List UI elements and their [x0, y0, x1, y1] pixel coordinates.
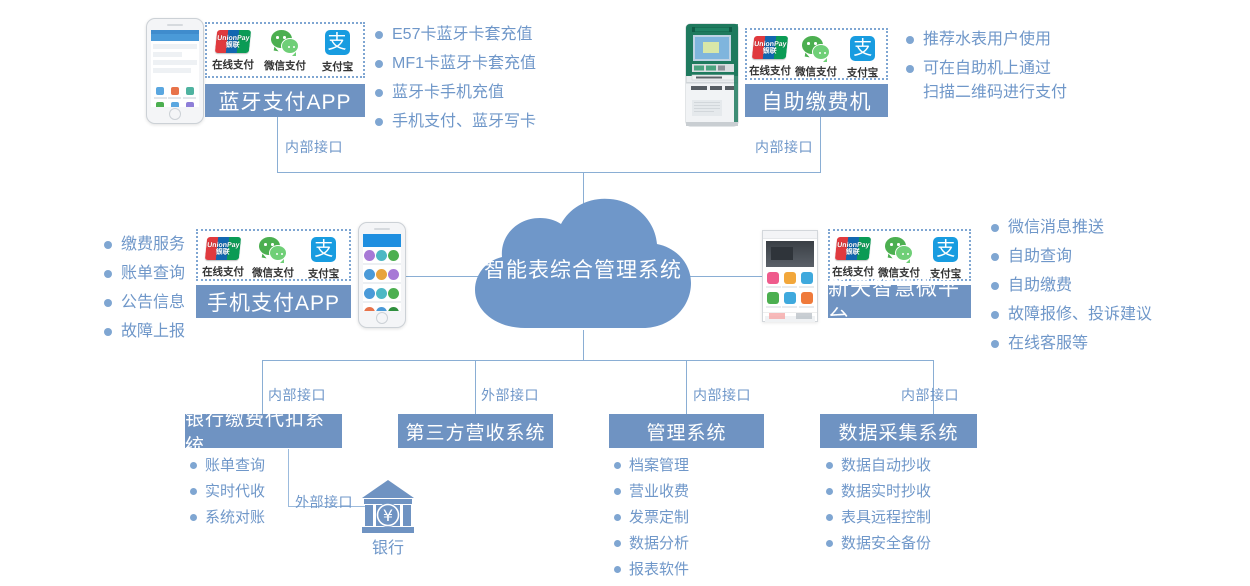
bullet-dot [375, 118, 383, 126]
feature-text: 公告信息 [121, 291, 185, 315]
data-collection-system-title[interactable]: 数据采集系统 [820, 414, 977, 448]
bullet-dot [906, 36, 914, 44]
phone-app-tile [388, 307, 400, 311]
phone-screen [151, 30, 199, 107]
alipay-icon: 支 [850, 36, 875, 61]
payment-method-label: 在线支付 [212, 56, 254, 71]
unionpay-cn: 银联 [215, 249, 230, 256]
phone-app-tile [182, 87, 197, 99]
bullet-dot [104, 270, 112, 278]
bullet-dot [190, 514, 197, 521]
list-item: 缴费服务 [104, 233, 185, 257]
list-item: 故障报修、投诉建议 [991, 303, 1152, 327]
bullet-dot [190, 462, 197, 469]
connector-top-right-vertical [820, 117, 821, 173]
list-item: 营业收费 [614, 481, 689, 503]
tablet-footer-item [769, 313, 785, 319]
payment-method-label: 在线支付 [749, 62, 791, 77]
bullet-dot [826, 462, 833, 469]
tablet-app-grid [763, 269, 817, 312]
phone-app-tile [376, 307, 388, 311]
feature-text: 手机支付、蓝牙写卡 [392, 110, 536, 134]
bullet-dot [190, 488, 197, 495]
list-item: 账单查询 [104, 262, 185, 286]
unionpay-icon: UnionPay银联 [205, 237, 241, 260]
label-interface-bottom-3: 内部接口 [693, 385, 751, 405]
bullet-dot [104, 328, 112, 336]
wechat-pay-icon [271, 30, 299, 54]
kiosk-title[interactable]: 自助缴费机 [745, 84, 888, 117]
connector-bottom-drop-2 [475, 360, 476, 414]
connector-top-bus [277, 172, 821, 173]
bullet-dot [991, 224, 999, 232]
phone-screen [363, 234, 401, 311]
bullet-dot [104, 241, 112, 249]
bullet-dot [991, 253, 999, 261]
phone-app-tile [388, 250, 400, 265]
unionpay-icon: UnionPay银联 [215, 30, 251, 53]
list-item: 公告信息 [104, 291, 185, 315]
unionpay-cn: 银联 [762, 48, 777, 55]
phone-speaker [167, 24, 183, 26]
tablet-hero-image [766, 241, 814, 267]
list-item: 数据实时抄收 [826, 481, 931, 503]
bullet-dot [826, 540, 833, 547]
list-item: 故障上报 [104, 320, 185, 344]
payment-method-label: 支付宝 [321, 58, 352, 73]
phone-speaker [374, 228, 390, 230]
phone-home-button [169, 108, 181, 120]
phone-content-row [153, 60, 197, 65]
payment-method-label: 支付宝 [847, 64, 878, 79]
self-service-kiosk-device [682, 18, 744, 133]
label-interface-bottom-4: 内部接口 [901, 385, 959, 405]
bullet-dot [906, 65, 914, 73]
list-item: 档案管理 [614, 455, 689, 477]
tablet-app-tile [798, 272, 815, 288]
phone-content-row [153, 44, 197, 49]
feature-text: 自助缴费 [1008, 274, 1072, 298]
connector-top-left-vertical [277, 117, 278, 173]
central-system-cloud: 智能表综合管理系统 [467, 196, 699, 336]
label-external-interface-bank: 外部接口 [295, 492, 353, 512]
phone-app-tile [168, 102, 183, 107]
kiosk-illustration-icon [682, 18, 744, 128]
bullet-dot [104, 299, 112, 307]
payment-method-unionpay: UnionPay银联 在线支付 [747, 36, 793, 78]
feature-text: MF1卡蓝牙卡套充值 [392, 52, 536, 76]
phone-banner [363, 234, 401, 247]
tablet-app-tile [765, 292, 782, 308]
feature-text: 推荐水表用户使用 [923, 28, 1051, 52]
list-item: 发票定制 [614, 507, 689, 529]
list-item: 表具远程控制 [826, 507, 931, 529]
wechat-pay-icon [259, 237, 287, 261]
payment-method-alipay: 支 支付宝 [311, 30, 362, 74]
bullet-dot [375, 31, 383, 39]
bullet-dot [991, 311, 999, 319]
tablet-footer-item [796, 313, 812, 319]
feature-text: 数据分析 [629, 533, 689, 555]
data-collection-system-feature-list: 数据自动抄收 数据实时抄收 表具远程控制 数据安全备份 [826, 455, 931, 559]
feature-text: 自助查询 [1008, 245, 1072, 269]
list-item: 数据安全备份 [826, 533, 931, 555]
tablet-app-tile [765, 272, 782, 288]
label-internal-interface-top-right: 内部接口 [755, 137, 813, 157]
phone-app-grid [151, 85, 199, 107]
phone-home-button [376, 312, 388, 324]
feature-text: 实时代收 [205, 481, 265, 503]
mobile-app-title[interactable]: 手机支付APP [196, 285, 351, 318]
wechat-platform-title[interactable]: 新天智慧微平台 [828, 285, 971, 318]
tablet-app-tile [798, 292, 815, 308]
payment-method-unionpay: UnionPay银联 在线支付 [207, 30, 258, 72]
bank-label: 银行 [360, 534, 416, 558]
connector-bottom-bus [262, 360, 933, 361]
bullet-dot [991, 340, 999, 348]
phone-app-tile [168, 87, 183, 99]
list-item: 实时代收 [190, 481, 265, 503]
payment-method-label: 微信支付 [253, 264, 295, 279]
mobile-app-feature-list: 缴费服务 账单查询 公告信息 故障上报 [104, 233, 185, 349]
tablet-app-tile [782, 292, 799, 308]
feature-text: 档案管理 [629, 455, 689, 477]
payment-method-label: 微信支付 [264, 57, 306, 72]
list-item: 微信消息推送 [991, 216, 1152, 240]
bullet-dot [375, 89, 383, 97]
list-item: 在线客服等 [991, 332, 1152, 356]
list-item: 账单查询 [190, 455, 265, 477]
bluetooth-app-feature-list: E57卡蓝牙卡套充值 MF1卡蓝牙卡套充值 蓝牙卡手机充值 手机支付、蓝牙写卡 [375, 23, 536, 139]
bank-deduction-system-feature-list: 账单查询 实时代收 系统对账 [190, 455, 265, 533]
unionpay-cn: 银联 [845, 249, 860, 256]
bullet-dot [614, 566, 621, 573]
payment-method-label: 在线支付 [202, 263, 244, 278]
mobile-app-phone-device [358, 222, 406, 328]
wechat-pay-icon [885, 237, 913, 261]
feature-text: 表具远程控制 [841, 507, 931, 529]
list-item: 自助查询 [991, 245, 1152, 269]
feature-text-line2: 扫描二维码进行支付 [923, 81, 1067, 105]
list-item: 数据分析 [614, 533, 689, 555]
bluetooth-app-title[interactable]: 蓝牙支付APP [205, 84, 365, 117]
unionpay-cn: 银联 [225, 42, 240, 49]
phone-app-tile [364, 307, 376, 311]
phone-content-row [153, 52, 182, 57]
phone-app-tile [153, 87, 168, 99]
feature-text: 系统对账 [205, 507, 265, 529]
third-party-revenue-system-title[interactable]: 第三方营收系统 [398, 414, 553, 448]
bank-building-icon: ¥ [360, 478, 416, 536]
bullet-dot [614, 540, 621, 547]
feature-text: 在线客服等 [1008, 332, 1088, 356]
management-system-title[interactable]: 管理系统 [609, 414, 764, 448]
unionpay-wordmark: UnionPay [217, 35, 250, 42]
feature-text: 故障报修、投诉建议 [1008, 303, 1152, 327]
kiosk-payment-methods: UnionPay银联 在线支付 微信支付 支 支付宝 [745, 28, 888, 80]
bluetooth-app-payment-methods: UnionPay银联 在线支付 微信支付 支 支付宝 [205, 22, 365, 78]
payment-method-label: 支付宝 [308, 265, 339, 280]
svg-text:¥: ¥ [383, 506, 393, 525]
feature-text: 发票定制 [629, 507, 689, 529]
bullet-dot [614, 462, 621, 469]
phone-app-grid [363, 247, 401, 311]
payment-method-wechat: 微信支付 [794, 36, 840, 79]
alipay-icon: 支 [933, 237, 958, 262]
tablet-titlebar [763, 231, 817, 239]
bullet-dot [826, 514, 833, 521]
feature-text: 报表软件 [629, 559, 689, 581]
bank-entity: ¥ 银行 [360, 478, 416, 556]
tablet-footer [763, 313, 817, 319]
feature-text: 数据实时抄收 [841, 481, 931, 503]
list-item: 系统对账 [190, 507, 265, 529]
list-item: 数据自动抄收 [826, 455, 931, 477]
kiosk-feature-list: 推荐水表用户使用 可在自助机上通过扫描二维码进行支付 [906, 28, 1067, 110]
feature-text: E57卡蓝牙卡套充值 [392, 23, 532, 47]
phone-navbar [151, 34, 199, 41]
phone-app-tile [153, 102, 168, 107]
feature-text: 可在自助机上通过 [923, 57, 1067, 81]
unionpay-wordmark: UnionPay [207, 242, 240, 249]
payment-method-alipay: 支 支付宝 [840, 36, 886, 80]
feature-text: 账单查询 [121, 262, 185, 286]
phone-app-tile [388, 288, 400, 303]
management-system-feature-list: 档案管理 营业收费 发票定制 数据分析 报表软件 [614, 455, 689, 585]
payment-method-label: 微信支付 [796, 63, 838, 78]
list-item: 手机支付、蓝牙写卡 [375, 110, 536, 134]
list-item: E57卡蓝牙卡套充值 [375, 23, 536, 47]
bullet-dot [375, 60, 383, 68]
phone-content-row [153, 68, 191, 73]
feature-text: 数据自动抄收 [841, 455, 931, 477]
list-item: 可在自助机上通过扫描二维码进行支付 [906, 57, 1067, 105]
feature-text: 营业收费 [629, 481, 689, 503]
unionpay-wordmark: UnionPay [837, 242, 870, 249]
bank-deduction-system-title[interactable]: 银行缴费代扣系统 [185, 414, 342, 448]
unionpay-icon: UnionPay银联 [752, 36, 788, 59]
bullet-dot [826, 488, 833, 495]
tablet-app-tile [782, 272, 799, 288]
feature-text: 数据安全备份 [841, 533, 931, 555]
list-item: 报表软件 [614, 559, 689, 581]
bluetooth-app-phone-device [146, 18, 204, 124]
connector-bottom-drop-3 [686, 360, 687, 414]
diagram-canvas: 内部接口 内部接口 内部接口 外部接口 内部接口 内部接口 外部接口 智能表综合… [0, 0, 1250, 586]
unionpay-icon: UnionPay银联 [835, 237, 871, 260]
label-interface-bottom-1: 内部接口 [268, 385, 326, 405]
list-item: 推荐水表用户使用 [906, 28, 1067, 52]
label-internal-interface-top-left: 内部接口 [285, 137, 343, 157]
alipay-icon: 支 [325, 30, 350, 55]
list-item: 自助缴费 [991, 274, 1152, 298]
alipay-icon: 支 [311, 237, 336, 262]
phone-app-tile [388, 269, 400, 284]
feature-text: 账单查询 [205, 455, 265, 477]
feature-text: 蓝牙卡手机充值 [392, 81, 504, 105]
feature-text: 故障上报 [121, 320, 185, 344]
bullet-dot [614, 514, 621, 521]
list-item: 蓝牙卡手机充值 [375, 81, 536, 105]
wechat-platform-tablet-device [762, 230, 818, 322]
payment-method-wechat: 微信支付 [259, 30, 310, 73]
phone-app-tile [182, 102, 197, 107]
feature-text: 缴费服务 [121, 233, 185, 257]
list-item: MF1卡蓝牙卡套充值 [375, 52, 536, 76]
wechat-platform-feature-list: 微信消息推送 自助查询 自助缴费 故障报修、投诉建议 在线客服等 [991, 216, 1152, 361]
unionpay-wordmark: UnionPay [754, 41, 787, 48]
payment-method-wechat: 微信支付 [249, 237, 299, 280]
feature-text: 微信消息推送 [1008, 216, 1104, 240]
mobile-app-payment-methods: UnionPay银联 在线支付 微信支付 支 支付宝 [196, 229, 351, 281]
label-interface-bottom-2: 外部接口 [481, 385, 539, 405]
bullet-dot [991, 282, 999, 290]
central-system-label: 智能表综合管理系统 [467, 254, 699, 284]
wechat-pay-icon [802, 36, 830, 60]
bullet-dot [614, 488, 621, 495]
payment-method-unionpay: UnionPay银联 在线支付 [198, 237, 248, 279]
payment-method-alipay: 支 支付宝 [299, 237, 349, 281]
